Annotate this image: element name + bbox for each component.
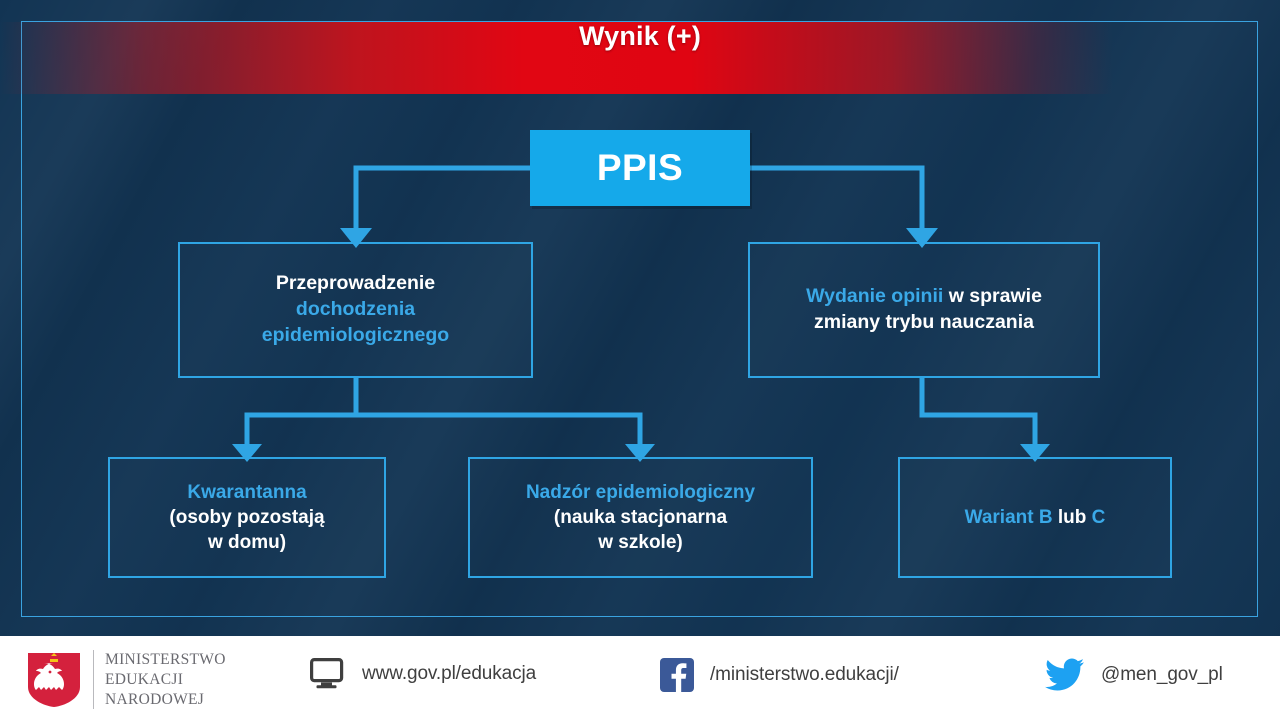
ministry-name-line2: EDUKACJI	[105, 670, 226, 690]
ministry-name: MINISTERSTWO EDUKACJI NARODOWEJ	[93, 650, 226, 709]
node-ppis[interactable]: PPIS	[530, 130, 750, 206]
ministry-name-line3: NARODOWEJ	[105, 690, 226, 710]
monitor-icon	[310, 658, 346, 690]
website-link[interactable]: www.gov.pl/edukacja	[310, 658, 536, 690]
node-wariant[interactable]: Wariant B lub C	[898, 457, 1172, 578]
ministry-logo: MINISTERSTWO EDUKACJI NARODOWEJ	[26, 650, 226, 709]
slide-root: Wynik (+) PPIS Przeprowadzeniedochodzeni…	[0, 0, 1280, 720]
node-opinia[interactable]: Wydanie opinii w sprawiezmiany trybu nau…	[748, 242, 1100, 378]
website-link-label: www.gov.pl/edukacja	[362, 663, 536, 685]
node-dochodzenie-label: Przeprowadzeniedochodzeniaepidemiologicz…	[250, 271, 461, 348]
node-nadzor[interactable]: Nadzór epidemiologiczny(nauka stacjonarn…	[468, 457, 813, 578]
node-dochodzenie[interactable]: Przeprowadzeniedochodzeniaepidemiologicz…	[178, 242, 533, 378]
polish-coat-of-arms-icon	[26, 651, 82, 709]
footer: MINISTERSTWO EDUKACJI NARODOWEJ www.gov.…	[0, 636, 1280, 720]
twitter-icon	[1045, 658, 1085, 692]
twitter-link[interactable]: @men_gov_pl	[1045, 658, 1223, 692]
facebook-link-label: /ministerstwo.edukacji/	[710, 664, 899, 686]
twitter-link-label: @men_gov_pl	[1101, 664, 1223, 686]
node-opinia-label: Wydanie opinii w sprawiezmiany trybu nau…	[794, 284, 1054, 335]
facebook-icon	[660, 658, 694, 692]
ministry-name-line1: MINISTERSTWO	[105, 650, 226, 670]
node-wariant-label: Wariant B lub C	[953, 505, 1118, 530]
node-kwarantanna[interactable]: Kwarantanna(osoby pozostająw domu)	[108, 457, 386, 578]
node-kwarantanna-label: Kwarantanna(osoby pozostająw domu)	[157, 480, 336, 555]
node-nadzor-label: Nadzór epidemiologiczny(nauka stacjonarn…	[514, 480, 767, 555]
page-title: Wynik (+)	[0, 0, 1280, 72]
facebook-link[interactable]: /ministerstwo.edukacji/	[660, 658, 899, 692]
node-ppis-label: PPIS	[585, 144, 695, 193]
